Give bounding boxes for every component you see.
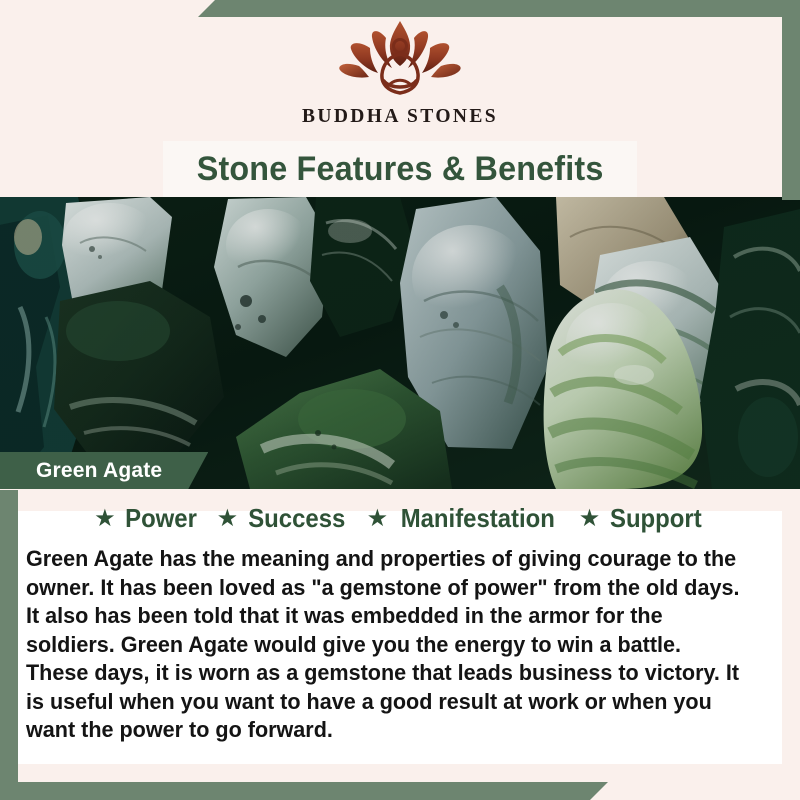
- panel-bottom-fill: [18, 764, 782, 782]
- hero-image: [0, 197, 800, 489]
- frame-band-left: [0, 490, 18, 800]
- star-icon: ★: [94, 507, 116, 531]
- section-title-plaque: Stone Features & Benefits: [163, 141, 637, 197]
- star-icon: ★: [579, 507, 601, 531]
- benefit-item: ★ Support: [579, 503, 706, 534]
- star-icon: ★: [217, 507, 239, 531]
- star-icon: ★: [367, 507, 389, 531]
- stone-name-label: Green Agate: [36, 459, 162, 483]
- benefit-item: ★ Power: [94, 503, 200, 534]
- stone-description: Green Agate has the meaning and properti…: [26, 545, 744, 745]
- frame-band-bottom: [0, 782, 800, 800]
- lotus-meditation-figure-icon: [334, 18, 466, 102]
- brand-name: BUDDHA STONES: [302, 106, 498, 128]
- benefit-label: Support: [610, 503, 702, 534]
- stone-name-tab: Green Agate: [0, 452, 208, 489]
- frame-band-right: [782, 0, 800, 200]
- benefits-list: ★ Power ★ Success ★ Manifestation ★ Supp…: [18, 503, 782, 534]
- benefit-label: Success: [248, 503, 345, 534]
- page-title: Stone Features & Benefits: [197, 150, 604, 189]
- info-panel: ★ Power ★ Success ★ Manifestation ★ Supp…: [18, 489, 782, 764]
- benefit-item: ★ Manifestation: [367, 503, 562, 534]
- benefit-label: Manifestation: [401, 503, 555, 534]
- benefit-label: Power: [125, 503, 197, 534]
- brand-logo: BUDDHA STONES: [0, 18, 800, 128]
- product-info-card: BUDDHA STONES: [0, 0, 800, 800]
- benefit-item: ★ Success: [217, 503, 350, 534]
